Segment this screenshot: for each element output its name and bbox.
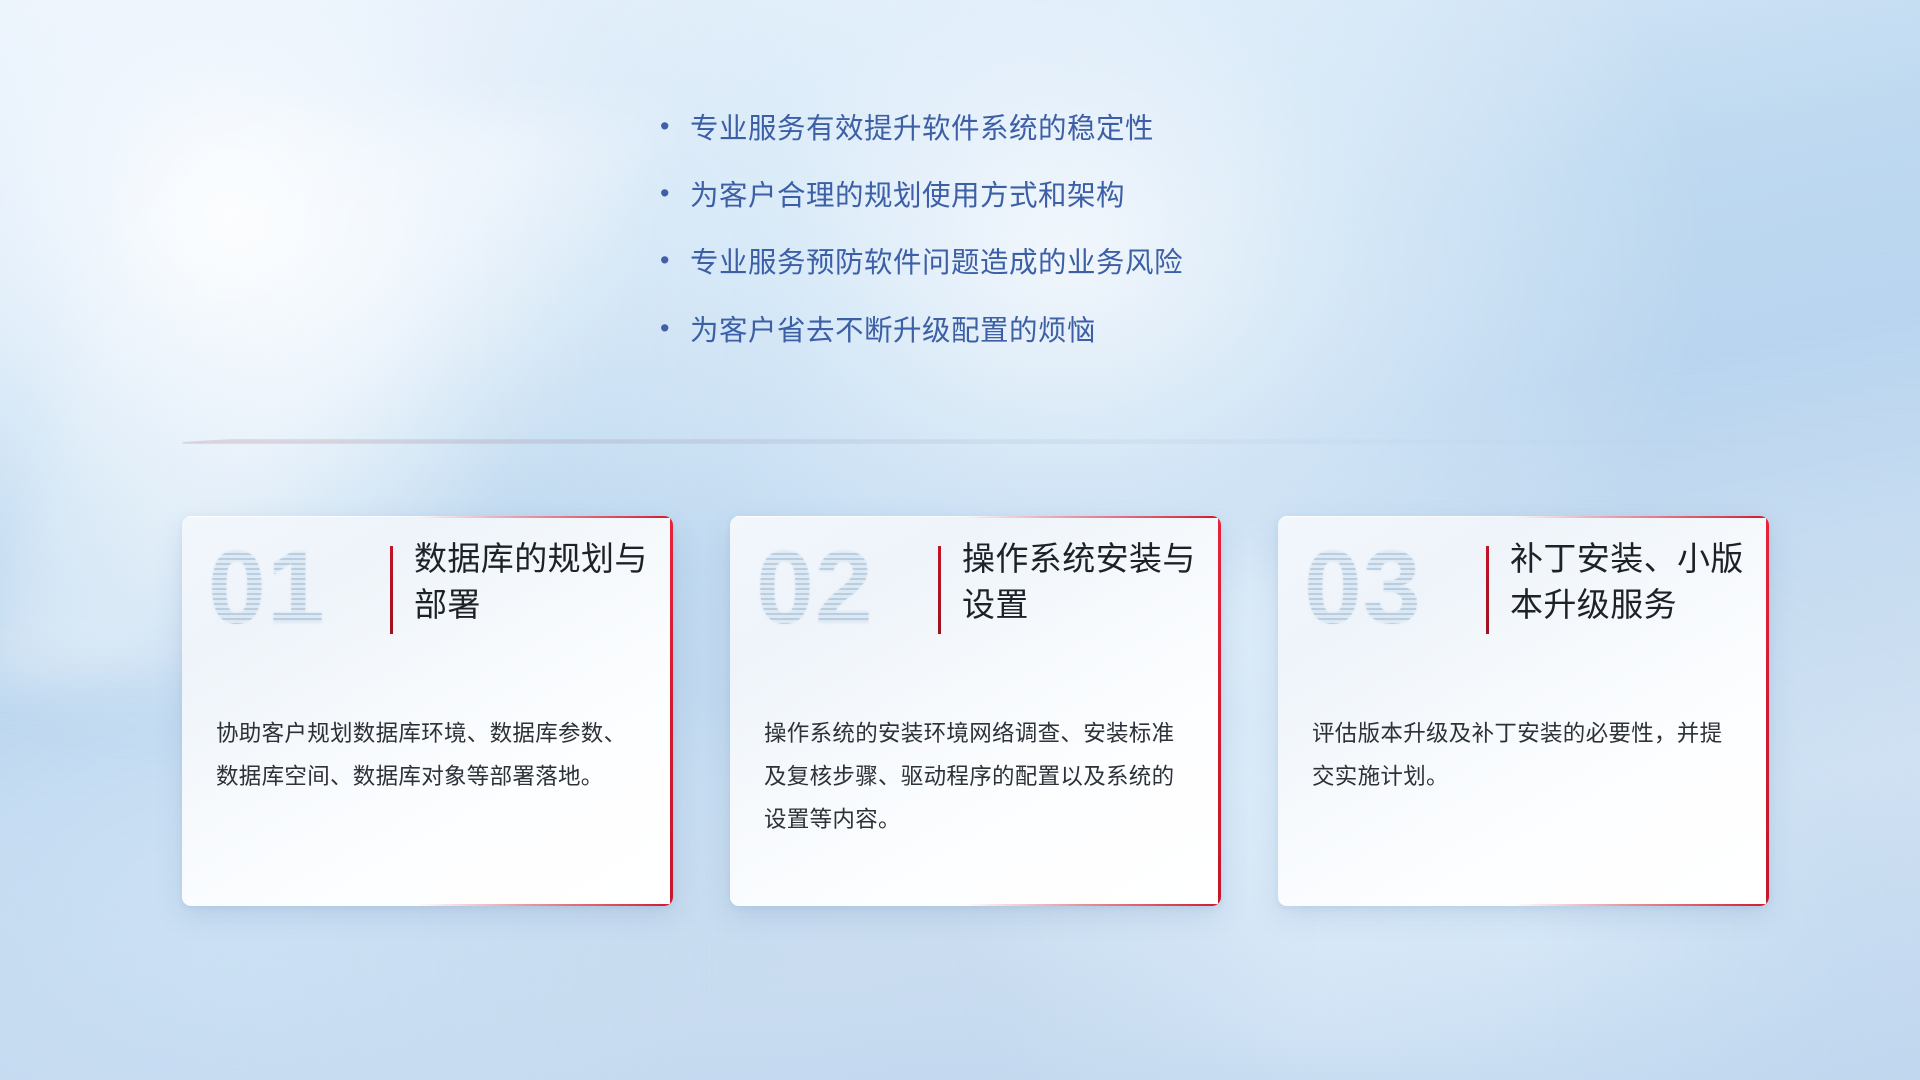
divider-line bbox=[182, 433, 1744, 440]
service-card-01[interactable]: 01 01 数据库的规划与部署 协助客户规划数据库环境、数据库参数、数据库空间、… bbox=[182, 516, 673, 906]
service-card-02[interactable]: 02 02 操作系统安装与设置 操作系统的安装环境网络调查、安装标准及复核步骤、… bbox=[730, 516, 1221, 906]
card-accent-bottom bbox=[1514, 904, 1769, 906]
list-item: • 为客户省去不断升级配置的烦恼 bbox=[660, 314, 1500, 348]
service-card-03[interactable]: 03 03 补丁安装、小版本升级服务 评估版本升级及补丁安装的必要性，并提交实施… bbox=[1278, 516, 1769, 906]
list-item: • 专业服务预防软件问题造成的业务风险 bbox=[660, 246, 1500, 280]
bullet-text: 专业服务预防软件问题造成的业务风险 bbox=[690, 246, 1183, 280]
service-cards-row: 01 01 数据库的规划与部署 协助客户规划数据库环境、数据库参数、数据库空间、… bbox=[182, 516, 1770, 916]
card-description: 评估版本升级及补丁安装的必要性，并提交实施计划。 bbox=[1312, 712, 1739, 798]
bullet-point-icon: • bbox=[660, 315, 690, 342]
card-title: 数据库的规划与部署 bbox=[414, 536, 655, 627]
list-item: • 为客户合理的规划使用方式和架构 bbox=[660, 179, 1500, 213]
card-header: 02 02 操作系统安装与设置 bbox=[730, 516, 1221, 698]
card-accent-bottom bbox=[418, 904, 673, 906]
section-divider bbox=[182, 425, 1744, 447]
card-accent-bottom bbox=[966, 904, 1221, 906]
bullet-text: 为客户省去不断升级配置的烦恼 bbox=[690, 314, 1096, 348]
bullet-text: 为客户合理的规划使用方式和架构 bbox=[690, 179, 1125, 213]
card-title-divider bbox=[938, 546, 941, 634]
card-title-divider bbox=[390, 546, 393, 634]
card-header: 03 03 补丁安装、小版本升级服务 bbox=[1278, 516, 1769, 698]
bullet-point-icon: • bbox=[660, 113, 690, 140]
benefits-bullet-list: • 专业服务有效提升软件系统的稳定性 • 为客户合理的规划使用方式和架构 • 专… bbox=[660, 112, 1500, 381]
card-description: 操作系统的安装环境网络调查、安装标准及复核步骤、驱动程序的配置以及系统的设置等内… bbox=[764, 712, 1191, 842]
card-description: 协助客户规划数据库环境、数据库参数、数据库空间、数据库对象等部署落地。 bbox=[216, 712, 643, 798]
card-number-watermark: 03 bbox=[1304, 536, 1422, 640]
card-title-divider bbox=[1486, 546, 1489, 634]
bullet-point-icon: • bbox=[660, 247, 690, 274]
card-number-watermark: 01 bbox=[208, 536, 326, 640]
card-header: 01 01 数据库的规划与部署 bbox=[182, 516, 673, 698]
card-number-watermark: 02 bbox=[756, 536, 874, 640]
bullet-text: 专业服务有效提升软件系统的稳定性 bbox=[690, 112, 1154, 146]
bullet-point-icon: • bbox=[660, 180, 690, 207]
list-item: • 专业服务有效提升软件系统的稳定性 bbox=[660, 112, 1500, 146]
card-title: 补丁安装、小版本升级服务 bbox=[1510, 536, 1751, 627]
card-title: 操作系统安装与设置 bbox=[962, 536, 1203, 627]
